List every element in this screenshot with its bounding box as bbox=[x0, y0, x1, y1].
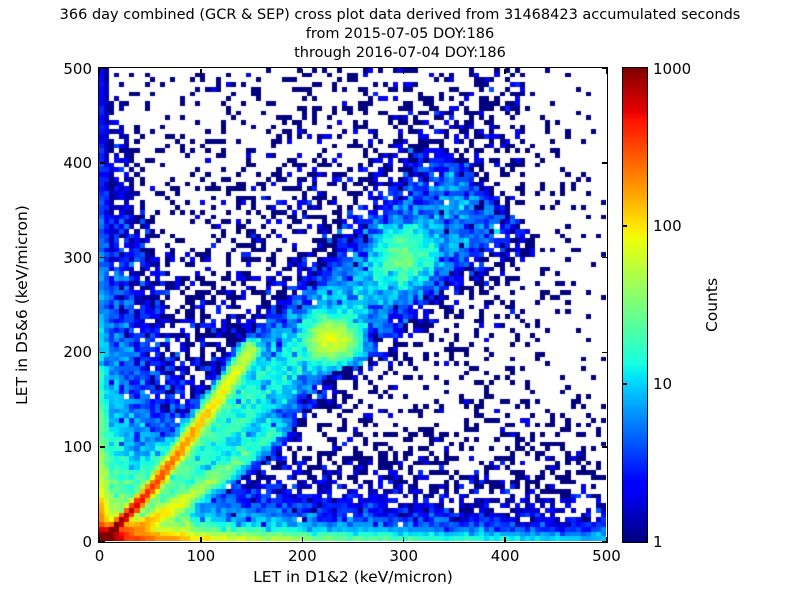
title-line-1: 366 day combined (GCR & SEP) cross plot … bbox=[0, 6, 800, 25]
colorbar bbox=[622, 67, 648, 543]
y-tick-label: 400 bbox=[63, 154, 92, 172]
y-tick-label: 100 bbox=[63, 438, 92, 456]
y-tick-mark bbox=[100, 257, 105, 259]
y-tick-label: 200 bbox=[63, 343, 92, 361]
y-tick-mark bbox=[602, 68, 607, 70]
x-tick-mark bbox=[302, 69, 304, 74]
heatmap-canvas bbox=[99, 68, 606, 541]
x-tick-label: 0 bbox=[95, 547, 105, 565]
colorbar-gradient bbox=[623, 68, 647, 542]
y-tick-mark bbox=[602, 257, 607, 259]
chart-page: 366 day combined (GCR & SEP) cross plot … bbox=[0, 0, 800, 600]
x-tick-mark bbox=[504, 69, 506, 74]
y-tick-mark bbox=[100, 446, 105, 448]
x-tick-mark bbox=[99, 69, 101, 74]
x-tick-mark bbox=[200, 537, 202, 542]
colorbar-tick-label: 1000 bbox=[653, 60, 691, 78]
x-tick-label: 400 bbox=[491, 547, 520, 565]
y-tick-mark bbox=[602, 446, 607, 448]
y-axis-label: LET in D5&6 (keV/micron) bbox=[13, 205, 31, 405]
x-tick-label: 200 bbox=[288, 547, 317, 565]
y-tick-label: 500 bbox=[63, 60, 92, 78]
y-tick-mark bbox=[100, 352, 105, 354]
x-tick-mark bbox=[302, 537, 304, 542]
x-tick-mark bbox=[606, 69, 608, 74]
y-tick-mark bbox=[602, 162, 607, 164]
y-tick-mark bbox=[602, 541, 607, 543]
x-tick-mark bbox=[403, 69, 405, 74]
colorbar-tick-mark bbox=[622, 383, 627, 385]
colorbar-tick-mark bbox=[622, 225, 627, 227]
x-tick-label: 100 bbox=[187, 547, 216, 565]
x-tick-mark bbox=[403, 537, 405, 542]
x-tick-label: 300 bbox=[389, 547, 418, 565]
x-tick-mark bbox=[200, 69, 202, 74]
chart-title: 366 day combined (GCR & SEP) cross plot … bbox=[0, 6, 800, 63]
y-tick-mark bbox=[100, 162, 105, 164]
x-tick-mark bbox=[504, 537, 506, 542]
title-line-2: from 2015-07-05 DOY:186 bbox=[0, 25, 800, 44]
y-tick-mark bbox=[602, 352, 607, 354]
y-tick-mark bbox=[100, 68, 105, 70]
plot-area bbox=[98, 67, 608, 543]
y-tick-label: 300 bbox=[63, 249, 92, 267]
colorbar-tick-label: 1 bbox=[653, 533, 663, 551]
y-tick-label: 0 bbox=[82, 533, 92, 551]
x-tick-label: 500 bbox=[592, 547, 621, 565]
colorbar-tick-label: 10 bbox=[653, 375, 672, 393]
y-tick-mark bbox=[100, 541, 105, 543]
colorbar-label: Counts bbox=[703, 278, 721, 332]
x-axis-label: LET in D1&2 (keV/micron) bbox=[98, 568, 608, 586]
colorbar-tick-label: 100 bbox=[653, 217, 682, 235]
